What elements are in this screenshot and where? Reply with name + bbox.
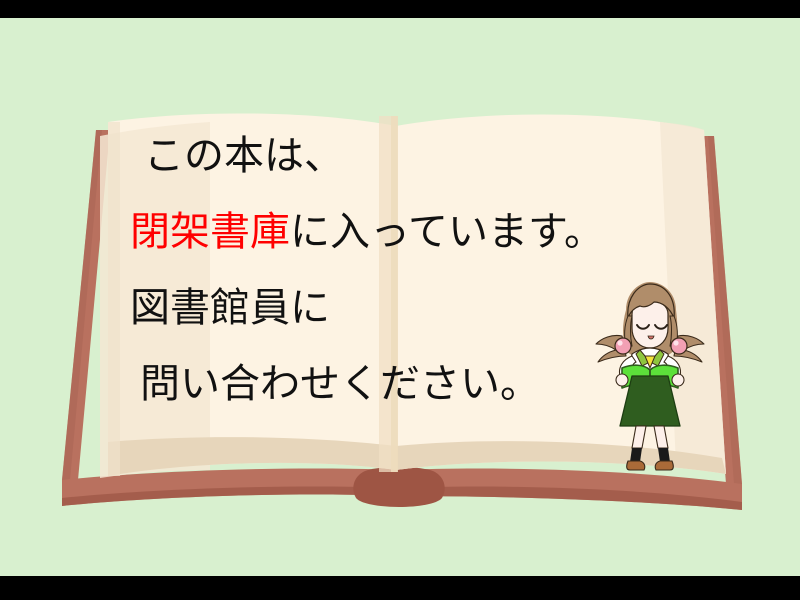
notice-line-1-text: この本は、 (144, 133, 344, 179)
notice-line-2-suffix: に入っています。 (290, 209, 604, 255)
girl-hairtie-left (615, 338, 631, 354)
girl-leg-right (654, 426, 668, 448)
notice-line-4-text: 問い合わせください。 (140, 361, 540, 407)
girl-sock-left (630, 448, 642, 462)
screenshot-stage: この本は、 閉架書庫に入っています。 図書館員に 問い合わせください。 (0, 0, 800, 600)
girl-hairtie-left-highlight (617, 340, 622, 345)
girl-mouth (648, 336, 654, 339)
illustration-canvas: この本は、 閉架書庫に入っています。 図書館員に 問い合わせください。 (0, 18, 800, 576)
girl-shoe-left (627, 461, 645, 470)
girl-hairtie-right-highlight (673, 340, 678, 345)
girl-hand-left (616, 374, 628, 386)
girl-shoe-right (655, 461, 673, 470)
librarian-girl-illustration (592, 276, 708, 472)
notice-line-2-emphasis: 閉架書庫 (130, 209, 290, 255)
notice-line-1: この本は、 (130, 118, 690, 194)
book-spine-knot (353, 467, 444, 507)
girl-sock-right (658, 448, 670, 462)
notice-line-2: 閉架書庫に入っています。 (130, 194, 690, 270)
letterbox-bar-bottom (0, 576, 800, 600)
book-inner-shadow-left (108, 122, 120, 476)
girl-leg-left (632, 426, 646, 448)
notice-line-3-text: 図書館員に (130, 285, 330, 331)
girl-hand-right (672, 374, 684, 386)
girl-hairtie-right (671, 338, 687, 354)
letterbox-bar-top (0, 0, 800, 18)
